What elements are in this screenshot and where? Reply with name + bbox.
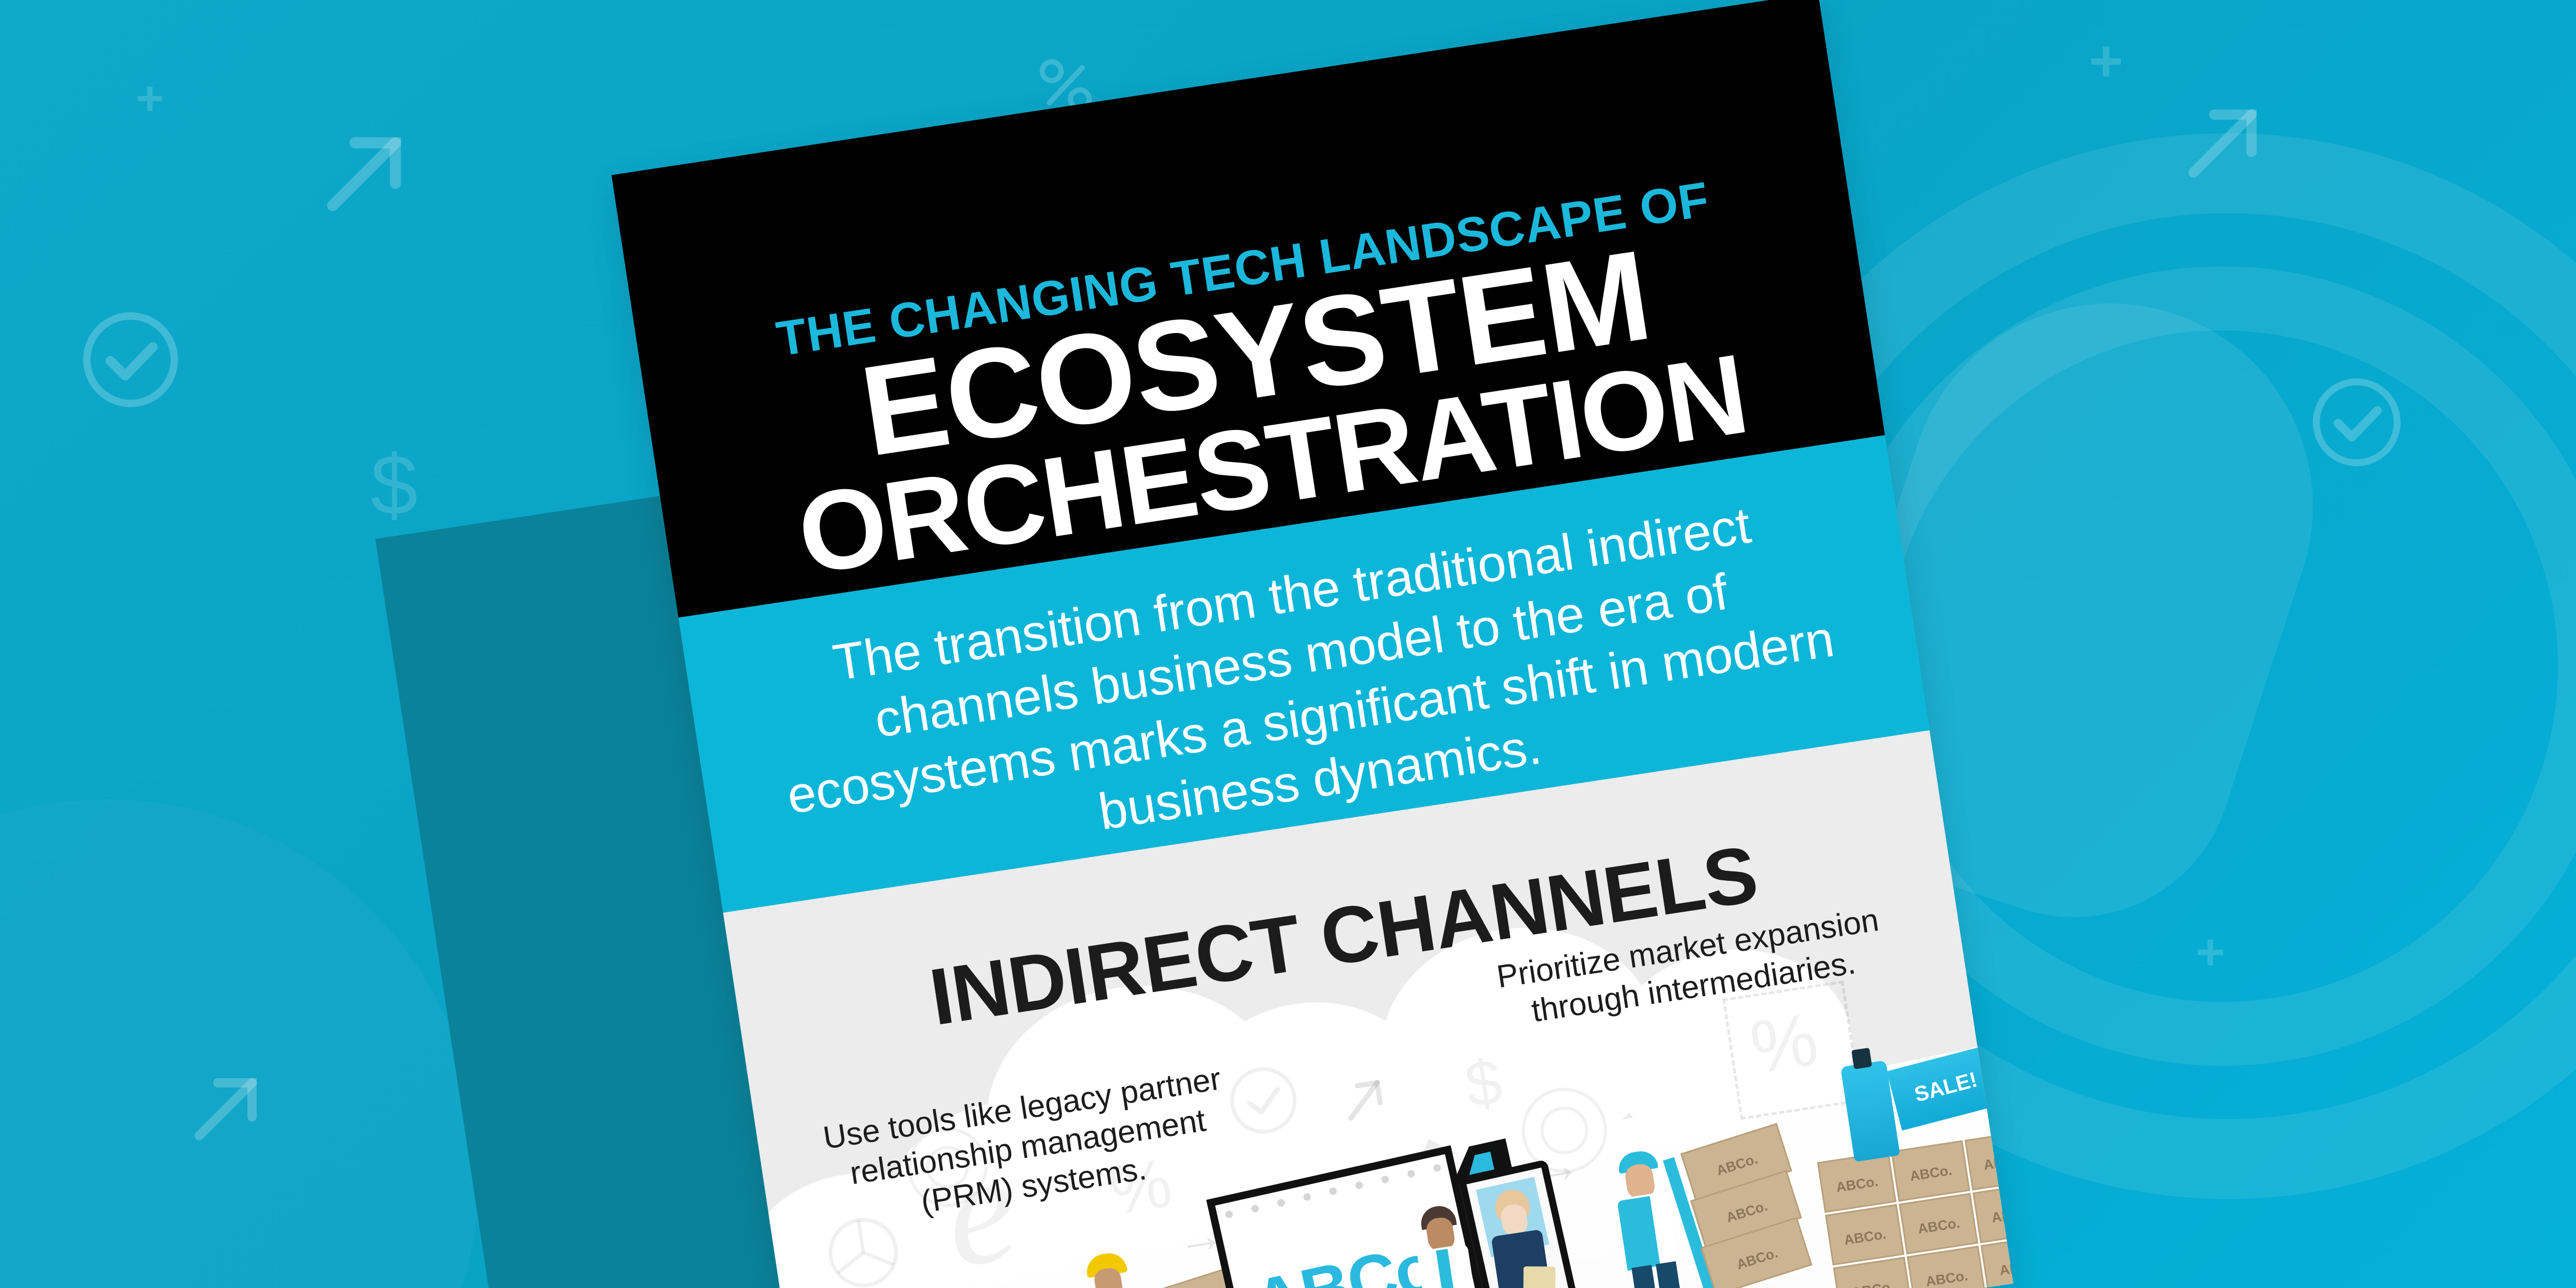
cardboard-box: ABCo. bbox=[1899, 1193, 1978, 1254]
cardboard-box: ABCo. bbox=[1825, 1204, 1905, 1266]
infographic-poster: THE CHANGING TECH LANDSCAPE OF ECOSYSTEM… bbox=[611, 0, 2013, 1288]
plus-icon: + bbox=[2089, 32, 2123, 91]
plus-icon: + bbox=[136, 75, 164, 123]
infographic-canvas: + + + + bbox=[0, 0, 2576, 1288]
check-circle-icon bbox=[77, 306, 184, 413]
box-label: ABCo. bbox=[1903, 1213, 1974, 1240]
bottle-cap bbox=[1851, 1048, 1872, 1070]
cardboard-box: ABCo. bbox=[1965, 1129, 2013, 1190]
sale-label: SALE! bbox=[1912, 1068, 1980, 1107]
box-label: ABCo. bbox=[1977, 1202, 2013, 1228]
dashed-box bbox=[1722, 981, 1862, 1120]
box-label: ABCo. bbox=[1969, 1149, 2013, 1176]
bg-blob-left bbox=[0, 799, 480, 1288]
check-circle-icon bbox=[2307, 373, 2406, 472]
box-label: ABCo. bbox=[1895, 1160, 1966, 1187]
cardboard-box: ABCo. bbox=[1981, 1235, 2013, 1288]
cardboard-box: ABCo. bbox=[1973, 1182, 2013, 1243]
box-label: ABCo. bbox=[1829, 1224, 1900, 1251]
cardboard-box: ABCo. bbox=[1891, 1140, 1970, 1202]
box-label: ABCo. bbox=[1821, 1171, 1892, 1198]
box-label: ABCo. bbox=[1985, 1254, 2013, 1281]
plus-icon: + bbox=[2196, 927, 2225, 978]
arrow-up-right-icon bbox=[2177, 96, 2270, 189]
arrow-up-right-icon bbox=[184, 1066, 269, 1151]
arrow-up-right-icon bbox=[314, 123, 416, 224]
arrow-up-right-icon bbox=[1335, 1071, 1393, 1129]
box-label: ABCo. bbox=[1911, 1266, 1982, 1288]
clipboard-icon bbox=[1524, 1266, 1556, 1288]
dollar-icon: $ bbox=[370, 442, 418, 528]
box-label: ABCo. bbox=[1837, 1277, 1908, 1288]
